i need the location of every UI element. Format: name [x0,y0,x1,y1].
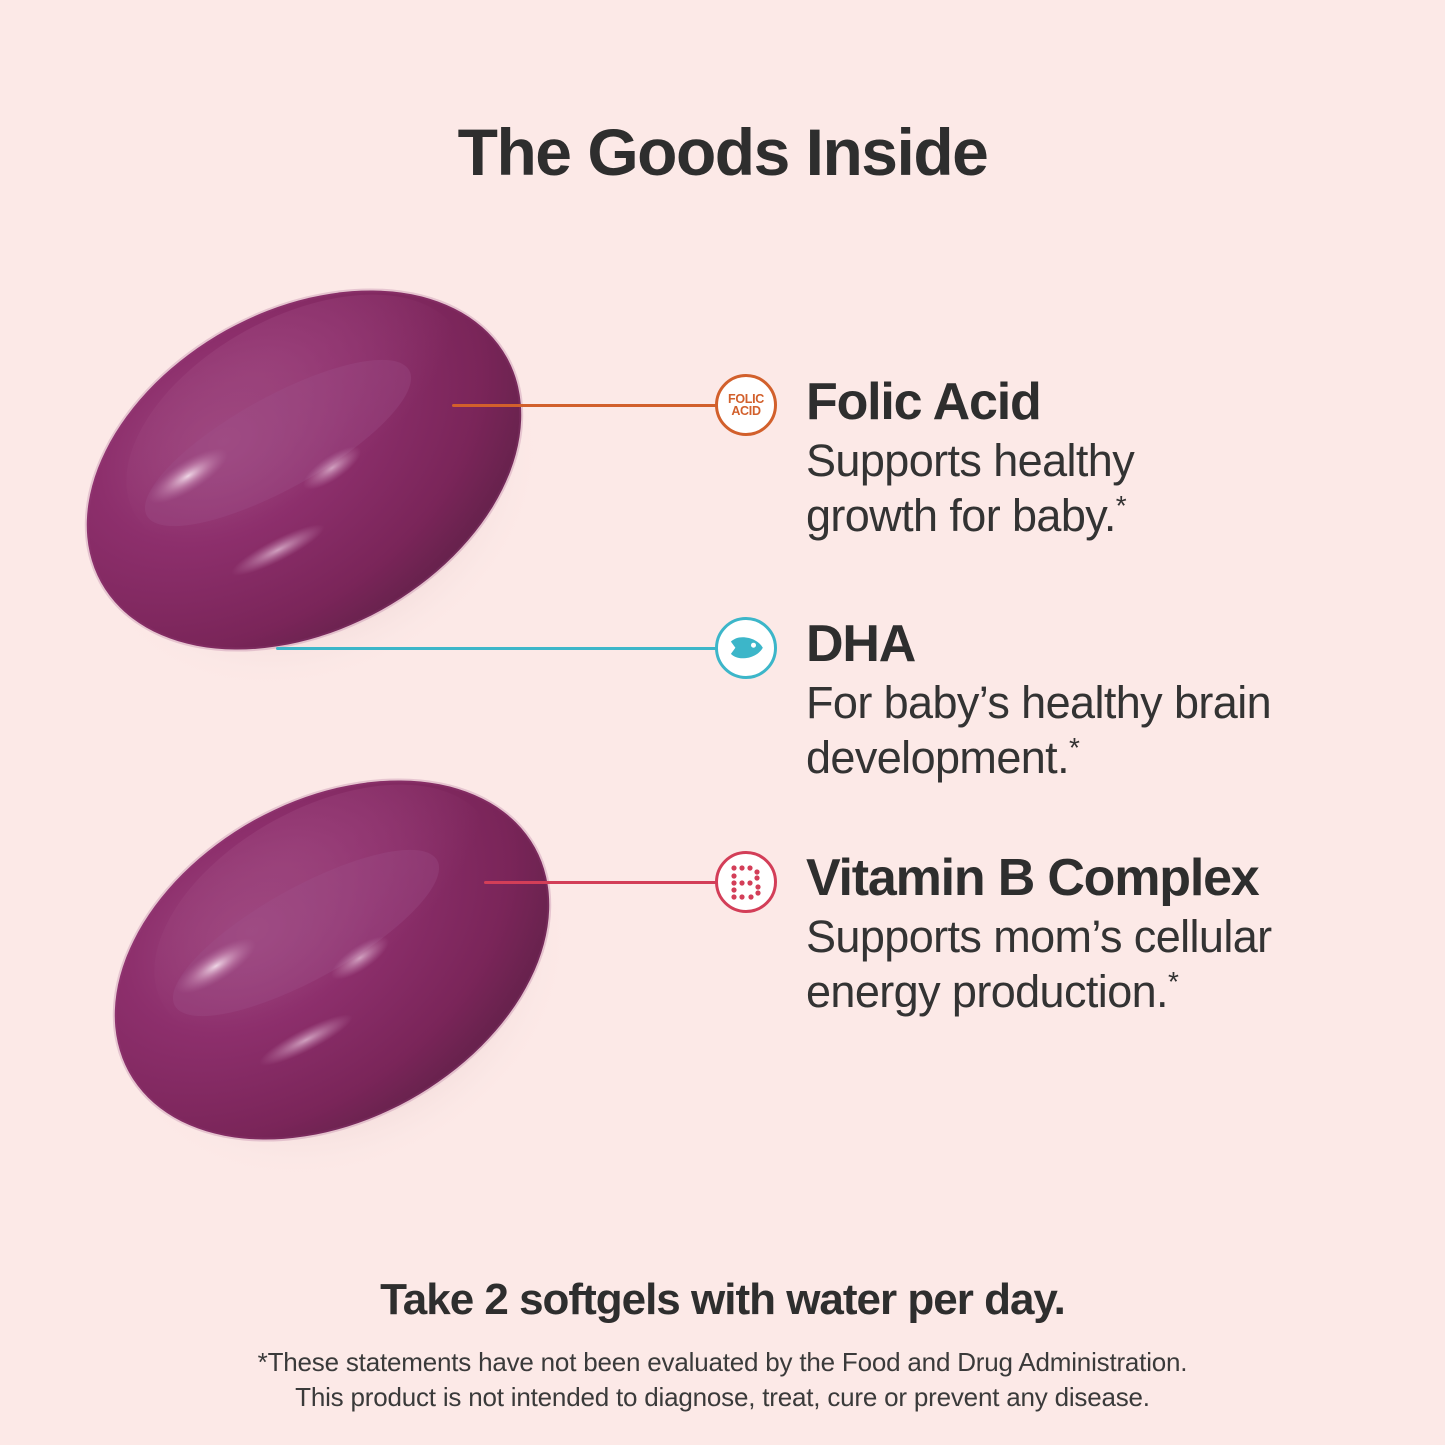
fish-icon [726,635,766,661]
fda-disclaimer: *These statements have not been evaluate… [0,1345,1445,1415]
dosage-instruction: Take 2 softgels with water per day. [0,1275,1445,1325]
connector-line-dha [276,647,718,650]
page-title: The Goods Inside [0,118,1445,187]
softgel-capsule-bottom-graphic [74,728,594,1178]
fact-dha: DHA For baby’s healthy brain development… [806,616,1326,786]
fact-folic-acid: Folic Acid Supports healthy growth for b… [806,374,1276,544]
connector-line-vitamin-b [484,881,718,884]
footnote-marker-dha: * [1069,732,1079,763]
fda-disclaimer-line-2: This product is not intended to diagnose… [0,1380,1445,1415]
fact-folic-acid-description: Supports healthy growth for baby.* [806,434,1276,544]
softgel-capsule-top-graphic [46,238,566,688]
fact-dha-title: DHA [806,616,1326,672]
fact-dha-description: For baby’s healthy brain development.* [806,676,1326,786]
fda-disclaimer-line-1: *These statements have not been evaluate… [0,1345,1445,1380]
goods-inside-panel: The Goods Inside [0,0,1445,1445]
folic-acid-badge-icon: FOLIC ACID [728,393,764,418]
fact-vitamin-b-complex-title: Vitamin B Complex [806,850,1366,906]
folic-acid-badge-line-2: ACID [728,405,764,418]
softgel-capsule-bottom [74,728,594,1178]
vitamin-b-dots-icon [729,864,763,900]
softgel-capsule-top [46,238,566,688]
dha-badge [715,617,777,679]
fact-vitamin-b-complex: Vitamin B Complex Supports mom’s cellula… [806,850,1366,1020]
fact-folic-acid-description-text: Supports healthy growth for baby. [806,435,1134,541]
connector-line-folic-acid [452,404,718,407]
fact-vitamin-b-complex-description-text: Supports mom’s cellular energy productio… [806,911,1272,1017]
fact-dha-description-text: For baby’s healthy brain development. [806,677,1271,783]
footnote-marker-folic-acid: * [1116,490,1126,521]
vitamin-b-badge [715,851,777,913]
footnote-marker-vitamin-b: * [1168,966,1178,997]
fact-vitamin-b-complex-description: Supports mom’s cellular energy productio… [806,910,1366,1020]
folic-acid-badge: FOLIC ACID [715,374,777,436]
fact-folic-acid-title: Folic Acid [806,374,1276,430]
